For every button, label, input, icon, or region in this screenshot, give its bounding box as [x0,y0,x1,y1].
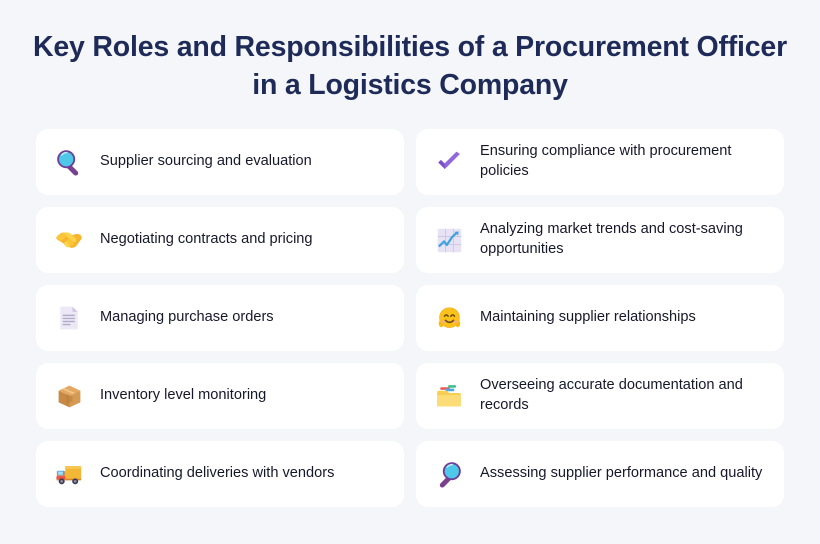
responsibility-card[interactable]: Assessing supplier performance and quali… [416,441,784,507]
card-label: Coordinating deliveries with vendors [100,464,334,484]
card-label: Inventory level monitoring [100,386,266,406]
responsibility-card[interactable]: Analyzing market trends and cost-saving … [416,207,784,273]
magnifying-glass-right-icon [432,457,466,491]
card-label: Analyzing market trends and cost-saving … [480,220,770,260]
card-label: Supplier sourcing and evaluation [100,152,312,172]
responsibility-card[interactable]: Coordinating deliveries with vendors [36,441,404,507]
infographic-page: Key Roles and Responsibilities of a Proc… [0,0,820,544]
card-label: Overseeing accurate documentation and re… [480,376,770,416]
responsibility-card[interactable]: Maintaining supplier relationships [416,285,784,351]
magnifying-glass-left-icon [52,145,86,179]
hugging-face-icon [432,301,466,335]
page-title: Key Roles and Responsibilities of a Proc… [0,0,820,104]
handshake-icon [52,223,86,257]
responsibility-card[interactable]: Managing purchase orders [36,285,404,351]
check-mark-icon [432,145,466,179]
responsibility-card[interactable]: Ensuring compliance with procurement pol… [416,129,784,195]
delivery-truck-icon [52,457,86,491]
responsibility-card[interactable]: Negotiating contracts and pricing [36,207,404,273]
card-index-dividers-icon [432,379,466,413]
card-label: Ensuring compliance with procurement pol… [480,142,770,182]
card-label: Negotiating contracts and pricing [100,230,313,250]
card-label: Maintaining supplier relationships [480,308,696,328]
page-document-icon [52,301,86,335]
responsibility-card[interactable]: Overseeing accurate documentation and re… [416,363,784,429]
responsibility-card[interactable]: Inventory level monitoring [36,363,404,429]
card-label: Assessing supplier performance and quali… [480,464,762,484]
responsibilities-grid: Supplier sourcing and evaluation Ensurin… [36,129,784,507]
package-box-icon [52,379,86,413]
chart-increasing-icon [432,223,466,257]
responsibility-card[interactable]: Supplier sourcing and evaluation [36,129,404,195]
card-label: Managing purchase orders [100,308,274,328]
